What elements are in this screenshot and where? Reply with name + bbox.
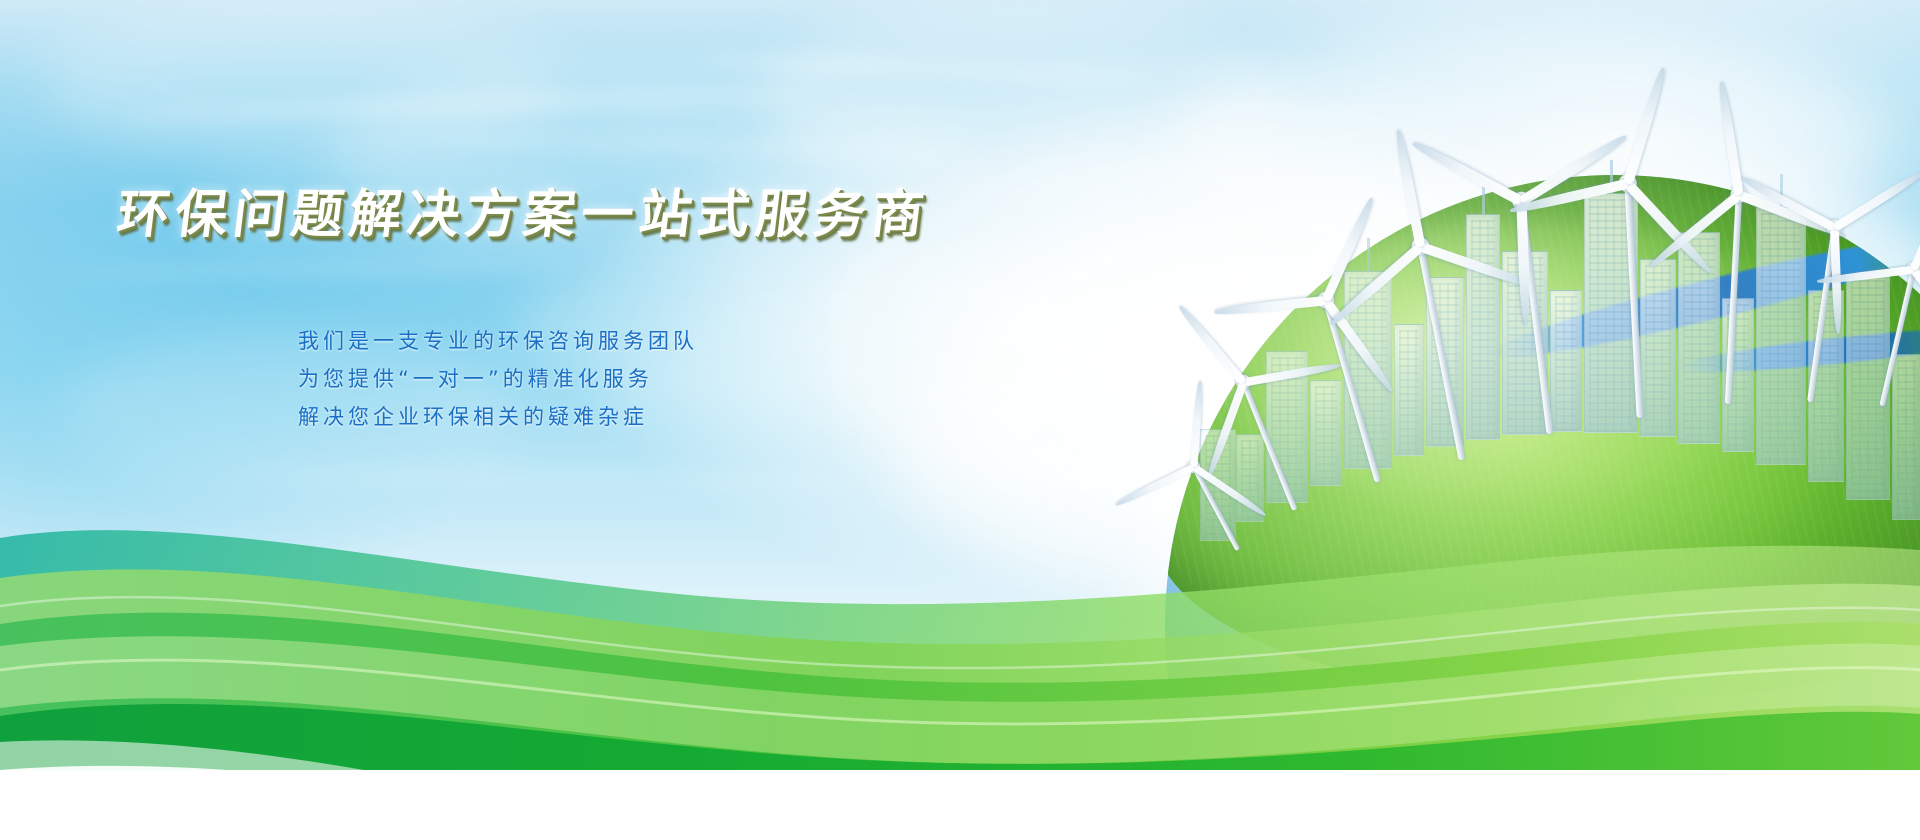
hero-banner: 环保问题解决方案一站式服务商 我们是一支专业的环保咨询服务团队 为您提供“一对一… (0, 0, 1920, 840)
page-title: 环保问题解决方案一站式服务商 (113, 172, 934, 247)
subtitle-block: 我们是一支专业的环保咨询服务团队 为您提供“一对一”的精准化服务 解决您企业环保… (298, 322, 698, 436)
bottom-white-strip (0, 770, 1920, 840)
skyline-building (1394, 324, 1424, 456)
subtitle-line-3: 解决您企业环保相关的疑难杂症 (298, 398, 698, 436)
skyline-building (1756, 207, 1806, 465)
turbine-mast (1725, 194, 1742, 404)
turbine-mast (1624, 183, 1643, 418)
skyline-building (1310, 380, 1342, 486)
subtitle-line-1: 我们是一支专业的环保咨询服务团队 (298, 322, 698, 360)
skyline-building (1466, 214, 1500, 440)
subtitle-line-2: 为您提供“一对一”的精准化服务 (298, 360, 698, 398)
